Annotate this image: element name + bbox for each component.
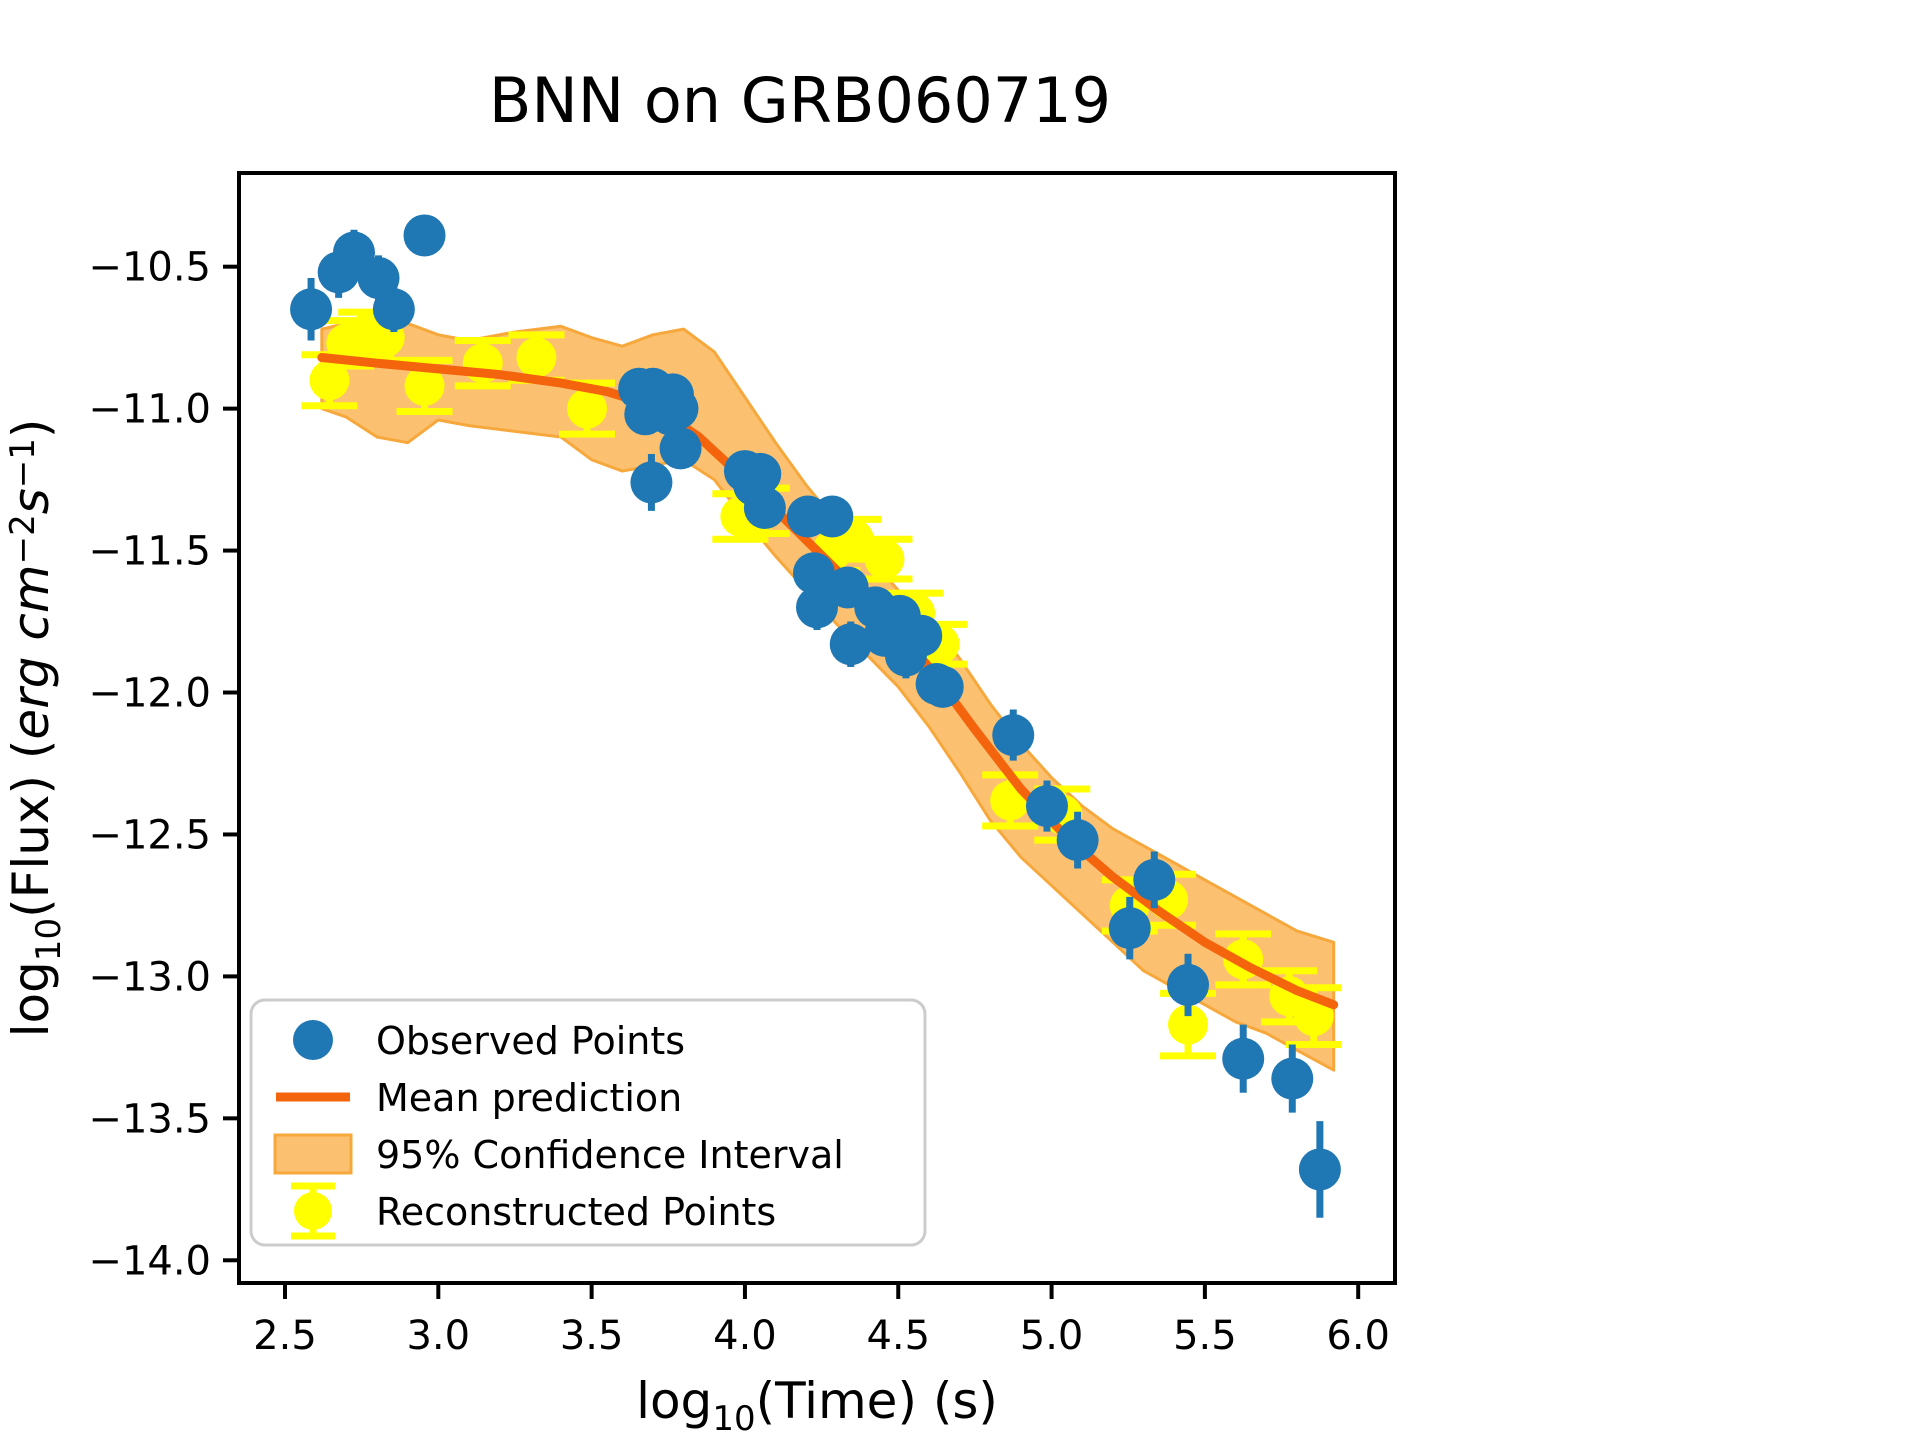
- chart-figure: BNN on GRB060719 2.53.03.54.04.55.05.56.…: [0, 0, 1920, 1440]
- legend-item-label: Observed Points: [376, 1019, 685, 1063]
- observed-point: [922, 666, 964, 708]
- y-tick-label: −14.0: [88, 1238, 211, 1284]
- legend-marker-circle-icon: [294, 1192, 332, 1230]
- legend-item-label: Mean prediction: [376, 1076, 682, 1120]
- y-axis-unit2-sup: −1: [3, 438, 43, 488]
- x-tick-label: 4.5: [866, 1313, 930, 1359]
- x-tick-label: 6.0: [1326, 1313, 1390, 1359]
- observed-point: [656, 388, 698, 430]
- observed-point: [811, 496, 853, 538]
- reconstructed-point: [864, 539, 904, 579]
- observed-point: [290, 288, 332, 330]
- y-tick-label: −10.5: [88, 245, 211, 291]
- y-axis-title-sub: 10: [29, 918, 69, 961]
- y-tick-label: −11.0: [88, 387, 211, 433]
- legend-marker-circle-icon: [293, 1020, 333, 1060]
- y-tick-label: −12.0: [88, 671, 211, 717]
- legend-item-label: Reconstructed Points: [376, 1190, 776, 1234]
- x-axis-title-main: log: [636, 1372, 712, 1430]
- observed-point: [1167, 964, 1209, 1006]
- y-axis-title-rest: (Flux) (: [2, 740, 60, 918]
- y-tick-label: −11.5: [88, 529, 211, 575]
- x-axis-title-sub: 10: [712, 1399, 755, 1439]
- observed-point: [404, 214, 446, 256]
- observed-point: [660, 427, 702, 469]
- y-tick-label: −12.5: [88, 812, 211, 858]
- y-tick-label: −13.0: [88, 954, 211, 1000]
- observed-point: [1222, 1038, 1264, 1080]
- observed-point: [992, 714, 1034, 756]
- observed-point: [1133, 859, 1175, 901]
- x-tick-label: 2.5: [253, 1313, 317, 1359]
- chart-canvas: BNN on GRB060719 2.53.03.54.04.55.05.56.…: [0, 0, 1920, 1440]
- legend-item-label: 95% Confidence Interval: [376, 1133, 844, 1177]
- observed-point: [1109, 907, 1151, 949]
- observed-point: [900, 615, 942, 657]
- observed-point: [744, 487, 786, 529]
- legend-marker-patch-icon: [275, 1135, 351, 1173]
- observed-point: [1026, 785, 1068, 827]
- x-tick-label: 5.5: [1173, 1313, 1237, 1359]
- observed-point: [1299, 1148, 1341, 1190]
- y-axis-unit1: erg cm: [2, 564, 60, 739]
- y-axis-unit2: s: [2, 488, 60, 514]
- x-tick-label: 3.0: [406, 1313, 470, 1359]
- x-tick-label: 4.0: [713, 1313, 777, 1359]
- x-tick-label: 3.5: [560, 1313, 624, 1359]
- observed-point: [630, 461, 672, 503]
- observed-point: [373, 288, 415, 330]
- x-tick-label: 5.0: [1020, 1313, 1084, 1359]
- y-tick-label: −13.5: [88, 1096, 211, 1142]
- page-title: BNN on GRB060719: [489, 64, 1111, 137]
- observed-point: [1057, 819, 1099, 861]
- y-axis-title-main: log: [2, 961, 60, 1037]
- legend: Observed PointsMean prediction95% Confid…: [251, 1000, 925, 1245]
- y-axis-title-close: ): [2, 419, 60, 439]
- y-axis-unit1-sup: −2: [3, 514, 43, 564]
- observed-point: [1271, 1058, 1313, 1100]
- x-axis-title: log10(Time) (s): [636, 1372, 998, 1439]
- x-axis-title-rest: (Time) (s): [756, 1372, 998, 1430]
- reconstructed-point: [516, 338, 556, 378]
